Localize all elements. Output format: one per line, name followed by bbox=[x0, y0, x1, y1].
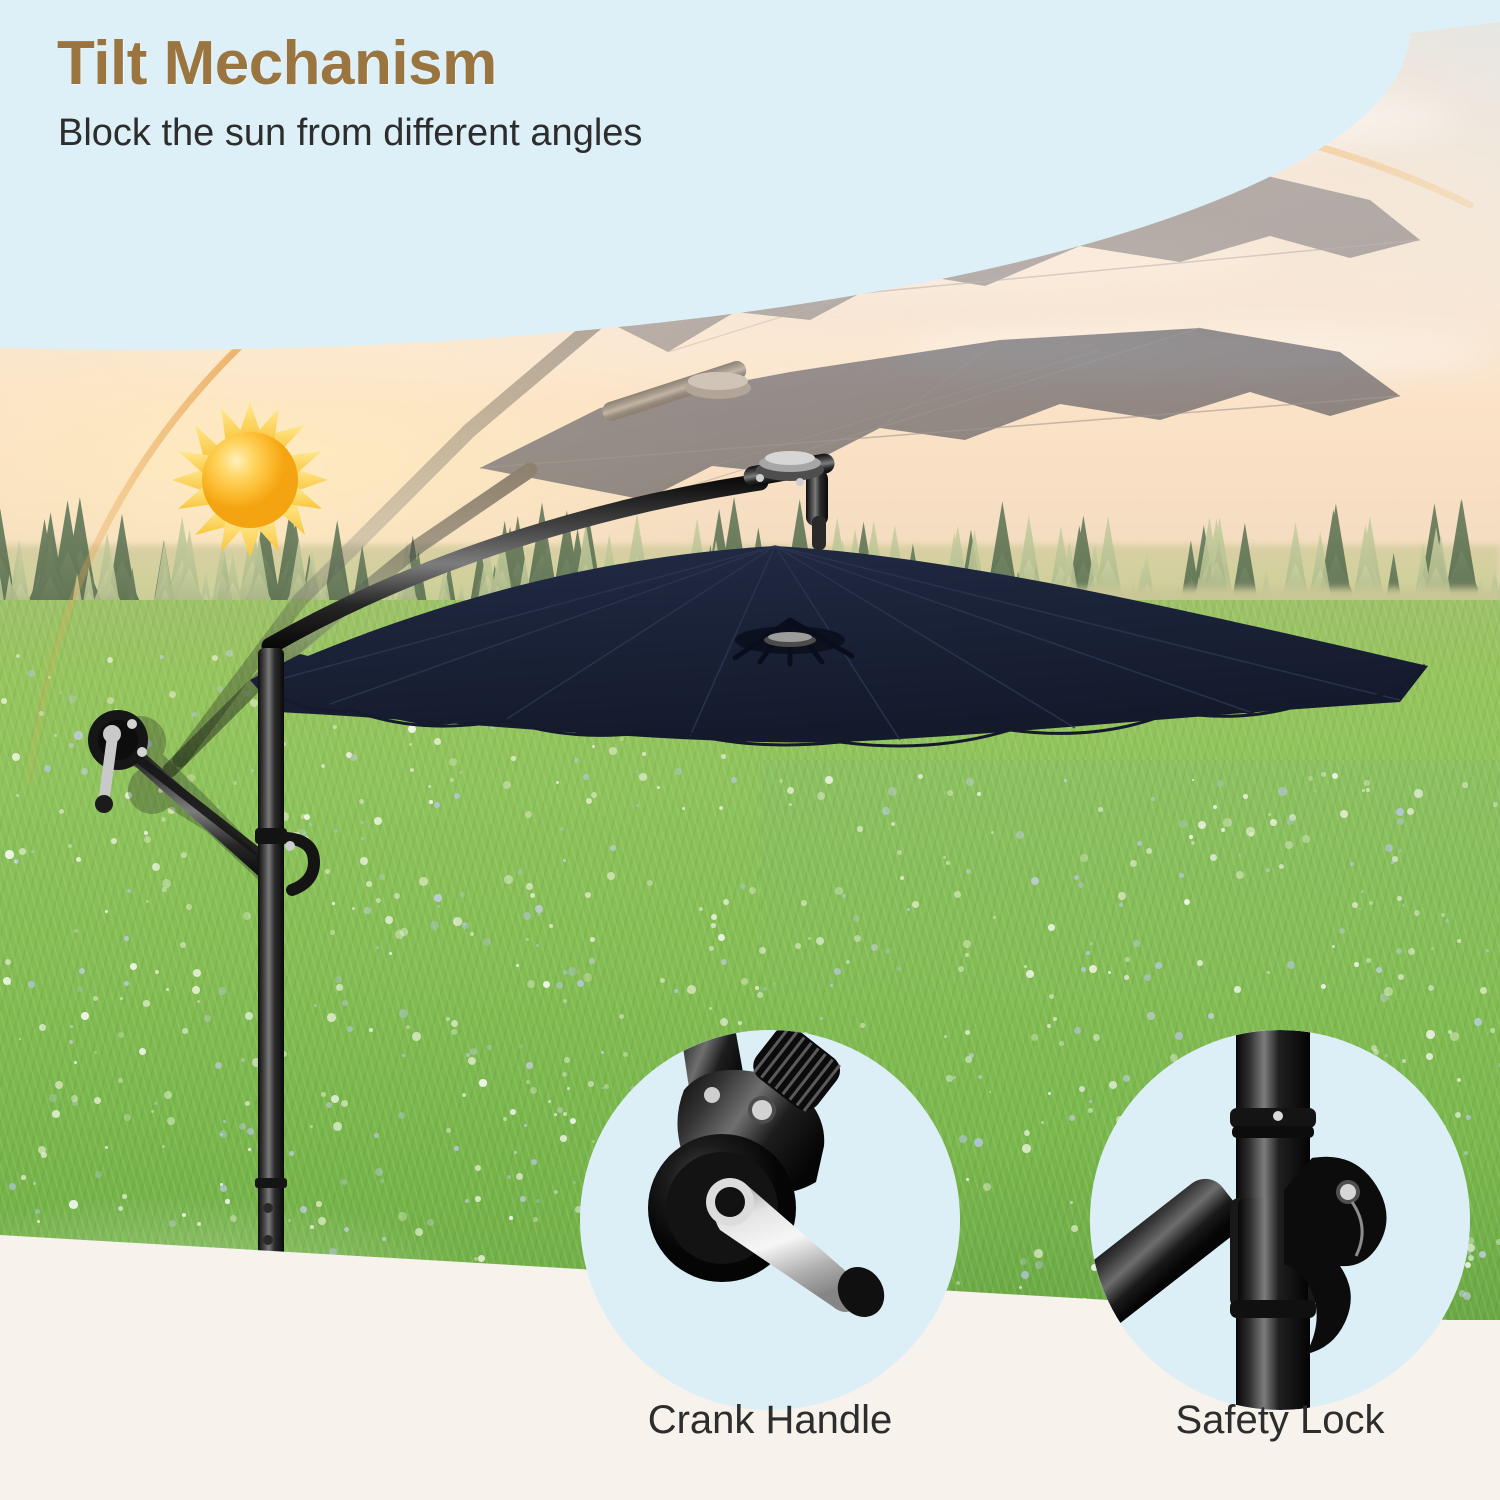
product-feature-image: Tilt Mechanism Block the sun from differ… bbox=[0, 0, 1500, 1500]
page-title: Tilt Mechanism bbox=[57, 28, 497, 99]
callout-label-crank-handle: Crank Handle bbox=[580, 1398, 960, 1443]
callout-safety-lock bbox=[1090, 1030, 1470, 1410]
callout-label-safety-lock: Safety Lock bbox=[1090, 1398, 1470, 1443]
callout-crank-handle bbox=[580, 1030, 960, 1410]
page-subtitle: Block the sun from different angles bbox=[58, 112, 642, 155]
